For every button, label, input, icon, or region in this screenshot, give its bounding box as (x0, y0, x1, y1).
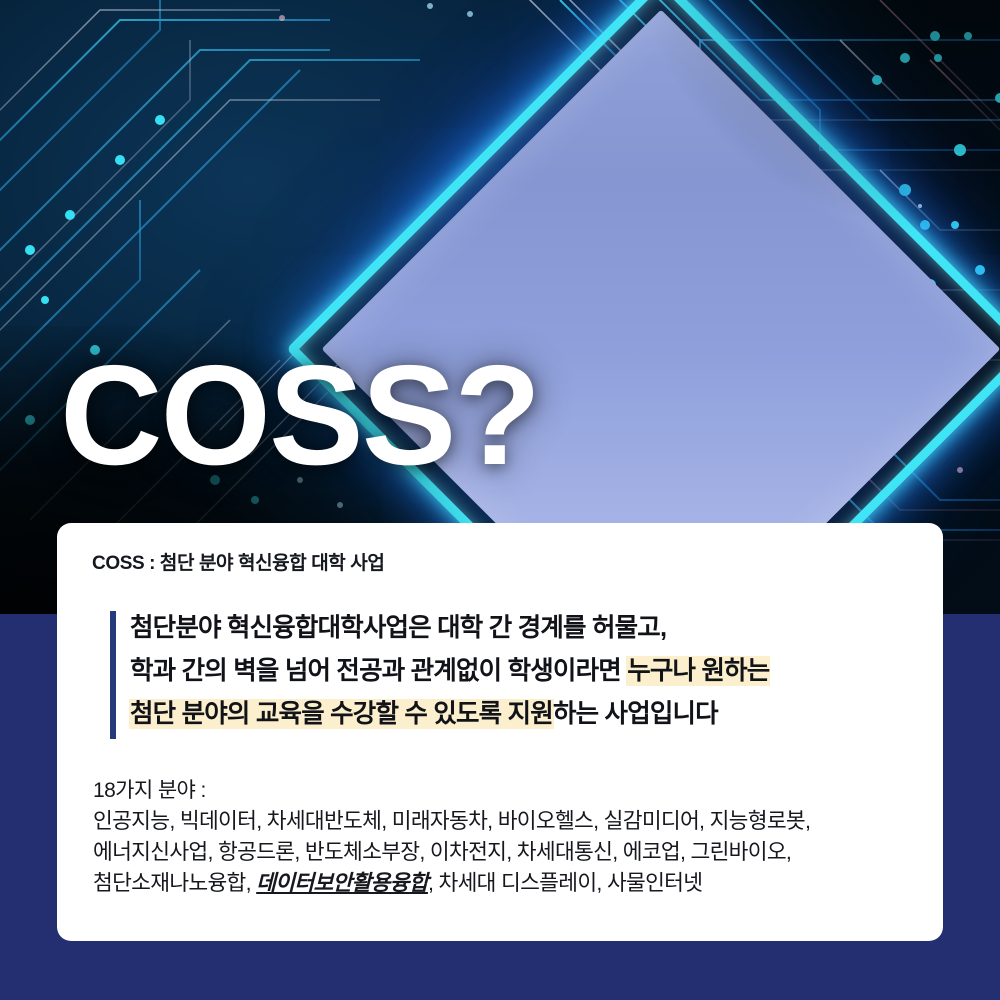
quote-block: 첨단분야 혁신융합대학사업은 대학 간 경계를 허물고, 학과 간의 벽을 넘어… (110, 607, 910, 736)
quote-lines: 첨단분야 혁신융합대학사업은 대학 간 경계를 허물고, 학과 간의 벽을 넘어… (130, 607, 910, 736)
fields-section: 18가지 분야 : 인공지능, 빅데이터, 차세대반도체, 미래자동차, 바이오… (93, 775, 923, 899)
quote-accent-bar (110, 611, 116, 739)
quote-line-2-highlight: 누구나 원하는 (627, 657, 769, 685)
fields-label: 18가지 분야 : (93, 775, 923, 806)
quote-line-3-highlight: 첨단 분야의 교육을 수강할 수 있도록 지원 (130, 700, 553, 728)
fields-list-emphasized-item: 데이터보안활용융합 (256, 871, 428, 895)
quote-line-1: 첨단분야 혁신융합대학사업은 대학 간 경계를 허물고, (130, 607, 910, 650)
quote-line-3-plain: 하는 사업입니다 (553, 700, 718, 728)
fields-list: 인공지능, 빅데이터, 차세대반도체, 미래자동차, 바이오헬스, 실감미디어,… (93, 806, 923, 899)
poster-root: COSS? COSS : 첨단 분야 혁신융합 대학 사업 첨단분야 혁신융합대… (0, 0, 1000, 1000)
card-subtitle: COSS : 첨단 분야 혁신융합 대학 사업 (92, 548, 384, 575)
quote-line-2-plain: 학과 간의 벽을 넘어 전공과 관계없이 학생이라면 (130, 657, 627, 685)
quote-line-3: 첨단 분야의 교육을 수강할 수 있도록 지원하는 사업입니다 (130, 693, 910, 736)
quote-line-2: 학과 간의 벽을 넘어 전공과 관계없이 학생이라면 누구나 원하는 (130, 650, 910, 693)
fields-list-after: , 차세대 디스플레이, 사물인터넷 (428, 871, 702, 895)
quote-line-1-text: 첨단분야 혁신융합대학사업은 대학 간 경계를 허물고, (130, 614, 666, 642)
page-title: COSS? (60, 345, 539, 487)
info-card: COSS : 첨단 분야 혁신융합 대학 사업 첨단분야 혁신융합대학사업은 대… (57, 523, 943, 941)
